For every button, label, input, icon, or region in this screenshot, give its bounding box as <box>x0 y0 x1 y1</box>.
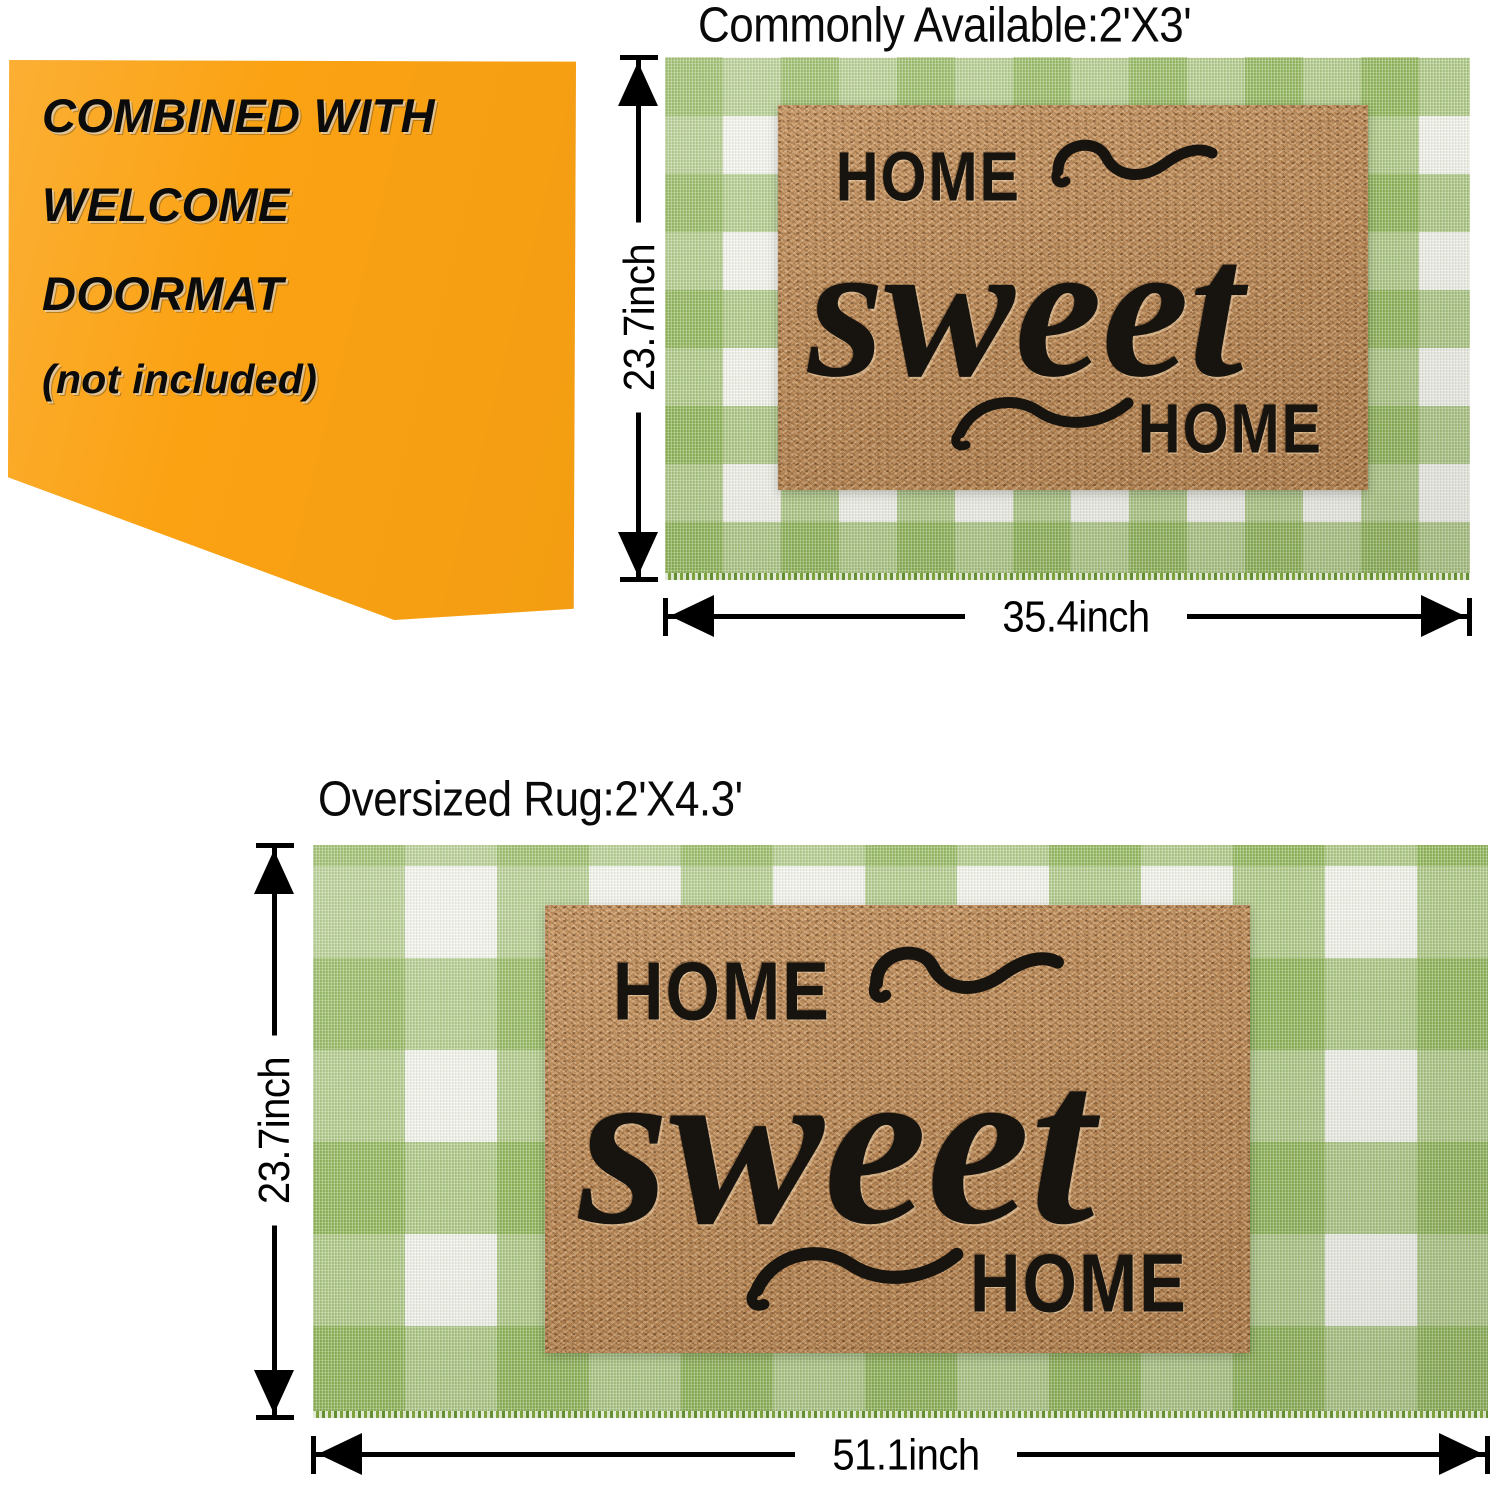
section-title-commonly-available: Commonly Available:2'X3' <box>698 0 1191 54</box>
dim-cap-left <box>663 598 668 636</box>
dim-arrow-up <box>254 850 294 894</box>
doormat-lettering: HOME sweet HOME <box>545 905 1250 1353</box>
dim-arrow-down <box>254 1370 294 1414</box>
doormat-lettering: HOME sweet HOME <box>778 105 1368 490</box>
rug-serged-edge <box>313 1411 1488 1418</box>
rug-serged-edge <box>665 573 1470 580</box>
section-title-oversized-rug: Oversized Rug:2'X4.3' <box>318 772 743 828</box>
dim-cap-top <box>256 843 294 848</box>
doormat-commonly-available: HOME sweet HOME <box>778 105 1368 490</box>
doormat-oversized: HOME sweet HOME <box>545 905 1250 1353</box>
dim-label-height: 23.7inch <box>250 1036 300 1226</box>
doormat-word-home-bottom: HOME <box>970 1236 1188 1330</box>
dim-label-width: 35.4inch <box>965 593 1187 643</box>
dim-cap-right <box>1485 1436 1490 1474</box>
dim-cap-bottom <box>256 1415 294 1420</box>
dim-arrow-left <box>318 1433 362 1475</box>
dim-cap-bottom <box>620 577 658 582</box>
doormat-word-home-bottom: HOME <box>1138 389 1323 469</box>
doormat-flourish-top-icon <box>1050 123 1220 203</box>
dim-arrow-right <box>1421 595 1465 637</box>
doormat-flourish-top-icon <box>867 927 1067 1021</box>
dim-arrow-right <box>1439 1433 1483 1475</box>
dim-label-height: 23.7inch <box>615 223 665 413</box>
infographic-canvas: COMBINED WITH WELCOME DOORMAT (not inclu… <box>0 0 1500 1500</box>
dim-label-width: 51.1inch <box>795 1431 1017 1481</box>
dim-arrow-up <box>618 62 658 106</box>
dim-arrow-down <box>618 532 658 576</box>
dim-arrow-left <box>670 595 714 637</box>
dim-cap-top <box>620 55 658 60</box>
dim-cap-right <box>1467 598 1472 636</box>
dim-cap-left <box>311 1436 316 1474</box>
